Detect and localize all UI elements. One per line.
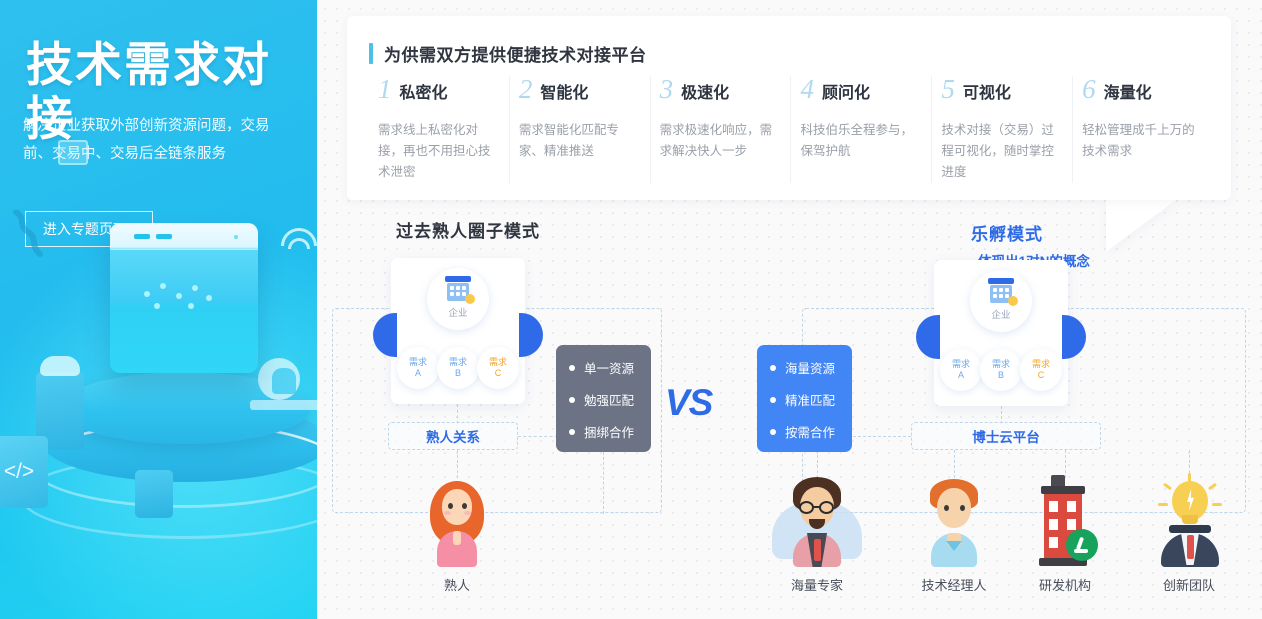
person-label: 海量专家 (774, 575, 860, 594)
feature-number: 2 (519, 76, 533, 103)
list-item: 单一资源 (569, 358, 651, 377)
enterprise-label: 企业 (991, 307, 1010, 321)
feature-card-header: 为供需双方提供便捷技术对接平台 (369, 41, 647, 66)
lightbulb-team-icon (1157, 475, 1221, 567)
feature-number: 3 (660, 76, 674, 103)
dash-connector-manager (954, 450, 955, 478)
feature-item-4[interactable]: 4 顾问化 科技伯乐全程参与，保驾护航 (790, 76, 931, 183)
feature-item-2[interactable]: 2 智能化 需求智能化匹配专家、精准推送 (509, 76, 650, 183)
need-letter: A (415, 368, 421, 379)
feature-card: 为供需双方提供便捷技术对接平台 1 私密化 需求线上私密化对接，再也不用担心技术… (347, 16, 1231, 200)
bullet-icon (770, 397, 776, 403)
need-letter: B (455, 368, 461, 379)
diagram-right-title: 乐孵模式 (971, 220, 1043, 245)
need-label: 需求 (952, 359, 970, 370)
need-label: 需求 (489, 357, 507, 368)
feature-desc: 需求智能化匹配专家、精准推送 (519, 120, 632, 162)
building-lab-icon (1033, 475, 1097, 567)
need-label: 需求 (449, 357, 467, 368)
dash-connector-gray-box (603, 452, 604, 514)
need-node-a[interactable]: 需求 A (397, 347, 439, 389)
led-dots (140, 281, 230, 309)
list-item: 捆绑合作 (569, 422, 651, 441)
feature-number: 6 (1082, 76, 1096, 103)
feature-number: 5 (941, 76, 955, 103)
hero-panel: 技术需求对接 解决企业获取外部创新资源问题，交易前、交易中、交易后全链条服务 进… (0, 0, 317, 619)
bullet-icon (569, 429, 575, 435)
expert-glasses-avatar (785, 475, 849, 567)
feature-name: 极速化 (681, 79, 729, 103)
need-letter: B (998, 370, 1004, 381)
bullet-icon (569, 397, 575, 403)
feature-name: 私密化 (400, 79, 448, 103)
old-relationship-tag[interactable]: 熟人关系 (388, 422, 518, 450)
page-root: 技术需求对接 解决企业获取外部创新资源问题，交易前、交易中、交易后全链条服务 进… (0, 0, 1262, 619)
bullet-icon (569, 365, 575, 371)
feature-item-3[interactable]: 3 极速化 需求极速化响应，需求解决快人一步 (650, 76, 791, 183)
cloud-icon (40, 356, 80, 376)
need-letter: C (495, 368, 502, 379)
accent-bar-icon (369, 43, 373, 64)
org-label: 创新团队 (1146, 575, 1232, 594)
enterprise-node: 企业 (427, 268, 489, 330)
need-label: 需求 (992, 359, 1010, 370)
list-item: 勉强匹配 (569, 390, 651, 409)
person-label: 技术经理人 (911, 575, 997, 594)
need-node-b[interactable]: 需求 B (980, 349, 1022, 391)
feature-desc: 技术对接（交易）过程可视化，随时掌控进度 (941, 120, 1054, 183)
bullet-icon (770, 365, 776, 371)
young-man-avatar (922, 475, 986, 567)
need-letter: A (958, 370, 964, 381)
feature-number: 4 (800, 76, 814, 103)
enterprise-card-right[interactable]: 企业 需求 A 需求 B 需求 C (934, 260, 1068, 406)
peg-prop (135, 470, 173, 518)
figure-person (272, 368, 296, 394)
list-item: 海量资源 (770, 358, 852, 377)
list-item: 按需合作 (770, 422, 852, 441)
code-tag-icon: </> (0, 436, 48, 508)
feature-desc: 科技伯乐全程参与，保驾护航 (800, 120, 913, 162)
enterprise-label: 企业 (448, 305, 467, 319)
feature-item-1[interactable]: 1 私密化 需求线上私密化对接，再也不用担心技术泄密 (369, 76, 509, 183)
feature-number: 1 (378, 76, 392, 103)
point-label: 单一资源 (584, 358, 634, 377)
need-node-a[interactable]: 需求 A (940, 349, 982, 391)
ribbon-shape (8, 210, 52, 262)
dash-connector-expert (817, 450, 818, 478)
bullet-icon (770, 429, 776, 435)
feature-card-title: 为供需双方提供便捷技术对接平台 (384, 41, 647, 66)
feature-name: 顾问化 (822, 79, 870, 103)
dash-connector-left-person (457, 450, 458, 478)
feature-name: 智能化 (540, 79, 588, 103)
enterprise-card-left[interactable]: 企业 需求 A 需求 B 需求 C (391, 258, 525, 404)
org-label: 研发机构 (1022, 575, 1108, 594)
comparison-diagram: 过去熟人圈子模式 乐孵模式 体现出1对N的概念 (317, 200, 1262, 619)
dash-connector-left-ent (457, 404, 458, 424)
need-node-c[interactable]: 需求 C (477, 347, 519, 389)
old-model-points: 单一资源 勉强匹配 捆绑合作 (556, 345, 651, 452)
feature-list: 1 私密化 需求线上私密化对接，再也不用担心技术泄密 2 智能化 需求智能化匹配… (369, 76, 1213, 183)
point-label: 精准匹配 (785, 390, 835, 409)
person-label: 熟人 (414, 575, 500, 594)
content-panel: 为供需双方提供便捷技术对接平台 1 私密化 需求线上私密化对接，再也不用担心技术… (317, 0, 1262, 619)
need-letter: C (1038, 370, 1045, 381)
feature-item-5[interactable]: 5 可视化 技术对接（交易）过程可视化，随时掌控进度 (931, 76, 1072, 183)
new-model-points: 海量资源 精准匹配 按需合作 (757, 345, 852, 452)
need-node-b[interactable]: 需求 B (437, 347, 479, 389)
feature-desc: 轻松管理成千上万的技术需求 (1082, 120, 1195, 162)
ribbon-svg (8, 210, 52, 262)
point-label: 捆绑合作 (584, 422, 634, 441)
point-label: 勉强匹配 (584, 390, 634, 409)
shelf-prop (250, 400, 317, 410)
building-icon (445, 276, 471, 302)
feature-desc: 需求极速化响应，需求解决快人一步 (660, 120, 773, 162)
list-item: 精准匹配 (770, 390, 852, 409)
person-badge-icon (465, 294, 475, 304)
hero-illustration: </> (0, 250, 317, 619)
feature-name: 可视化 (963, 79, 1011, 103)
dash-connector-institute (1065, 450, 1066, 478)
need-label: 需求 (409, 357, 427, 368)
wifi-icon (288, 220, 317, 260)
feature-name: 海量化 (1104, 79, 1152, 103)
server-box (110, 223, 258, 373)
building-icon (988, 278, 1014, 304)
need-label: 需求 (1032, 359, 1050, 370)
feature-desc: 需求线上私密化对接，再也不用担心技术泄密 (378, 120, 491, 183)
person-badge-icon (1008, 296, 1018, 306)
feature-item-6[interactable]: 6 海量化 轻松管理成千上万的技术需求 (1072, 76, 1213, 183)
dash-connector-blue-box (853, 436, 911, 437)
diagram-left-title: 过去熟人圈子模式 (396, 217, 540, 242)
chip-icon (58, 140, 88, 165)
need-node-c[interactable]: 需求 C (1020, 349, 1062, 391)
enterprise-node: 企业 (970, 270, 1032, 332)
woman-redhair-avatar (425, 475, 489, 567)
vs-label: VS (665, 382, 712, 424)
platform-tag[interactable]: 博士云平台 (911, 422, 1101, 450)
point-label: 按需合作 (785, 422, 835, 441)
point-label: 海量资源 (785, 358, 835, 377)
